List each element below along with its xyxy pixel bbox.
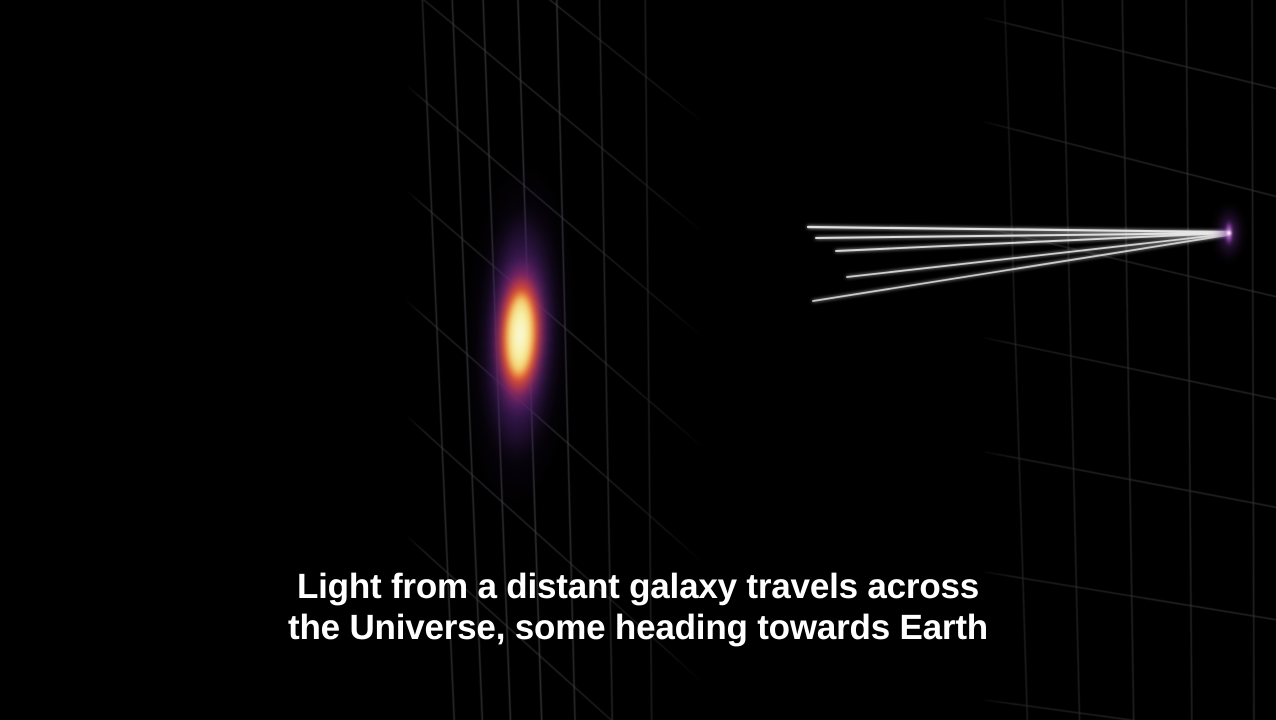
scene-background (0, 0, 1276, 720)
space-scene (0, 0, 1276, 720)
visualization-stage: Light from a distant galaxy travels acro… (0, 0, 1276, 720)
